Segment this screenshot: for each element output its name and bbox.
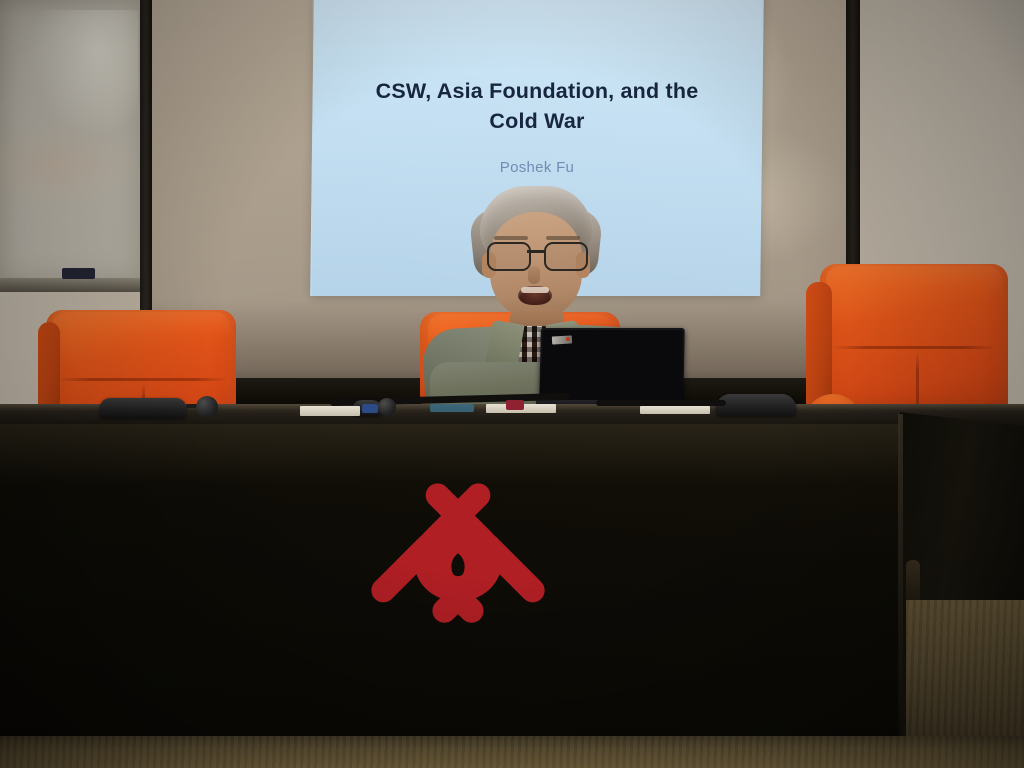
podium-end-edge <box>898 414 903 766</box>
microphone-left-head <box>196 396 218 418</box>
carpet-texture-bottom <box>0 736 1024 768</box>
eyebrow-left <box>494 236 528 240</box>
chair-right <box>806 258 1014 428</box>
desk-item-red <box>506 400 524 410</box>
teeth <box>521 287 549 293</box>
whiteboard-eraser <box>62 268 95 279</box>
desk-cable-right <box>596 400 726 406</box>
glasses-lens-right <box>544 242 588 271</box>
polyu-knot-logo-icon <box>338 450 578 690</box>
whiteboard <box>0 0 140 282</box>
desk-paper-left <box>300 406 360 416</box>
glasses-bridge <box>527 250 544 253</box>
carpet-bottom <box>0 736 1024 768</box>
nose <box>528 266 540 284</box>
microphone-right-base <box>716 394 796 416</box>
desk-item-teal <box>430 404 474 412</box>
microphone-center-head <box>378 398 396 416</box>
whiteboard-marker-tray <box>0 278 143 292</box>
laptop-badge-dot-icon <box>566 337 570 341</box>
lecture-scene: CSW, Asia Foundation, and the Cold War P… <box>0 0 1024 768</box>
glasses-lens-left <box>487 242 531 271</box>
eyebrow-right <box>546 236 580 240</box>
whiteboard-glare-secondary <box>0 120 140 210</box>
glasses-icon <box>484 242 588 268</box>
desk-item-blue <box>362 404 378 413</box>
microphone-left-base <box>100 398 186 418</box>
desk-paper-right <box>640 406 710 414</box>
